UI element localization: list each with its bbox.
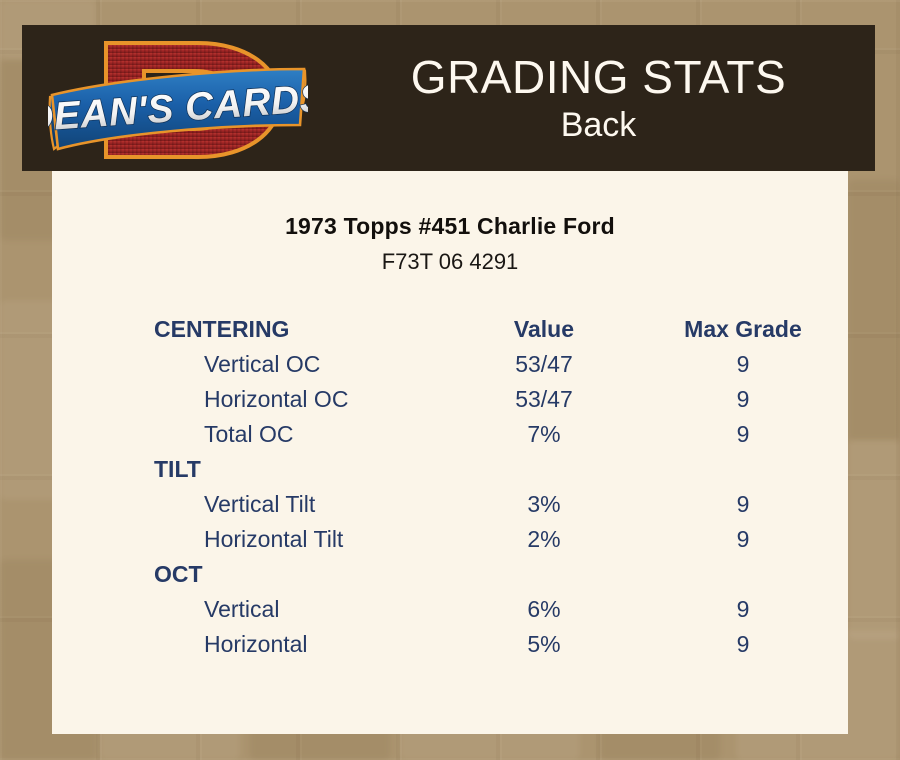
row-value: 6% <box>450 592 638 627</box>
page-subtitle: Back <box>561 105 637 145</box>
row-label: Total OC <box>52 417 450 452</box>
row-max-grade: 9 <box>638 417 848 452</box>
table-row: Horizontal 5% 9 <box>52 627 848 662</box>
header-title-block: GRADING STATS Back <box>322 25 875 171</box>
section-spacer-grade <box>638 452 848 487</box>
grading-stats-page: DEAN'S CARDS GRADING STATS Back 1973 Top… <box>0 0 900 760</box>
table-row: Horizontal Tilt 2% 9 <box>52 522 848 557</box>
card-identifier: F73T 06 4291 <box>52 249 848 275</box>
row-max-grade: 9 <box>638 627 848 662</box>
table-row: Total OC 7% 9 <box>52 417 848 452</box>
section-header-oct: OCT <box>52 557 450 592</box>
row-label: Vertical OC <box>52 347 450 382</box>
section-spacer-grade <box>638 557 848 592</box>
column-header-max-grade: Max Grade <box>638 312 848 347</box>
card-title: 1973 Topps #451 Charlie Ford <box>52 213 848 240</box>
row-label: Horizontal <box>52 627 450 662</box>
section-header-row: OCT <box>52 557 848 592</box>
row-max-grade: 9 <box>638 487 848 522</box>
row-value: 53/47 <box>450 382 638 417</box>
grading-stats-table: CENTERING Value Max Grade Vertical OC 53… <box>52 312 848 662</box>
column-header-centering: CENTERING <box>52 312 450 347</box>
deans-cards-logo[interactable]: DEAN'S CARDS <box>48 29 308 171</box>
row-max-grade: 9 <box>638 382 848 417</box>
row-value: 2% <box>450 522 638 557</box>
row-value: 7% <box>450 417 638 452</box>
section-header-tilt: TILT <box>52 452 450 487</box>
page-header: DEAN'S CARDS GRADING STATS Back <box>22 25 875 171</box>
row-value: 5% <box>450 627 638 662</box>
row-value: 3% <box>450 487 638 522</box>
section-spacer-value <box>450 452 638 487</box>
row-label: Horizontal OC <box>52 382 450 417</box>
section-header-row: TILT <box>52 452 848 487</box>
section-spacer-value <box>450 557 638 592</box>
row-value: 53/47 <box>450 347 638 382</box>
row-max-grade: 9 <box>638 347 848 382</box>
table-row: Horizontal OC 53/47 9 <box>52 382 848 417</box>
table-row: Vertical OC 53/47 9 <box>52 347 848 382</box>
table-header-row: CENTERING Value Max Grade <box>52 312 848 347</box>
row-label: Vertical <box>52 592 450 627</box>
content-panel: 1973 Topps #451 Charlie Ford F73T 06 429… <box>52 171 848 734</box>
column-header-value: Value <box>450 312 638 347</box>
row-label: Horizontal Tilt <box>52 522 450 557</box>
table-row: Vertical Tilt 3% 9 <box>52 487 848 522</box>
row-max-grade: 9 <box>638 592 848 627</box>
table-row: Vertical 6% 9 <box>52 592 848 627</box>
row-max-grade: 9 <box>638 522 848 557</box>
page-title: GRADING STATS <box>411 51 786 103</box>
row-label: Vertical Tilt <box>52 487 450 522</box>
